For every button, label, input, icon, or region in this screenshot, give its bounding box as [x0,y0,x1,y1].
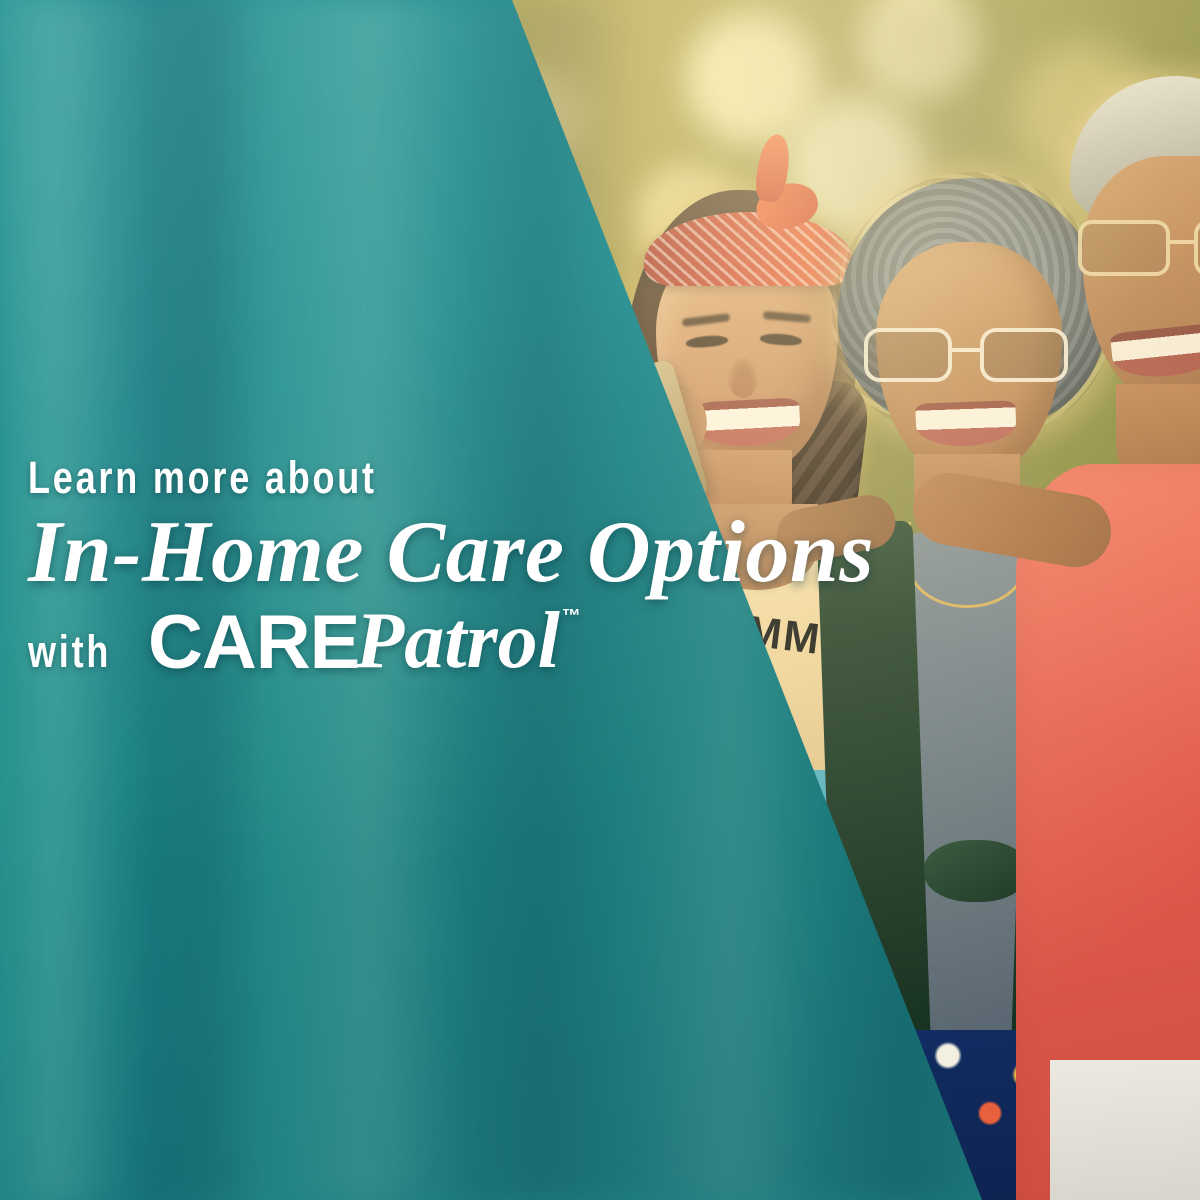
eyeglass-lens-right [1194,220,1200,276]
marketing-banner: #SUMMER [0,0,1200,1200]
eyeglass-bridge [1170,240,1194,244]
cardigan-knot [924,840,1028,902]
eyeglass-lens-left [1078,220,1170,276]
eyeglass-lens-right [980,328,1068,382]
eyeglass-bridge [952,348,980,352]
grandfather-figure [1060,60,1200,1200]
eyeglass-lens-left [864,328,952,382]
grandfather-pants [1050,1060,1200,1200]
grandfather-eyeglasses [1078,220,1200,276]
grandmother-eyeglasses [864,328,1072,382]
girl-nose [728,358,758,398]
